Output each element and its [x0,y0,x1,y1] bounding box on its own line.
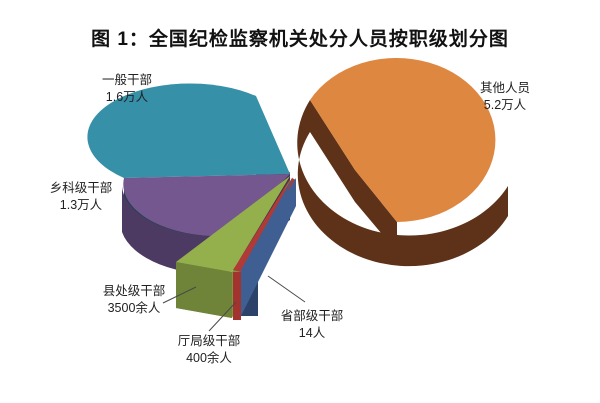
label-general-value: 1.6万人 [72,89,182,106]
label-bureau-value: 400余人 [150,350,268,367]
pie-chart-figure: 图 1：全国纪检监察机关处分人员按职级划分图 [0,0,600,403]
label-province-value: 14人 [256,325,368,342]
label-county-cadres: 县处级干部 3500余人 [78,283,190,317]
label-county-name: 县处级干部 [78,283,190,300]
label-other-value: 5.2万人 [452,97,558,114]
label-province-name: 省部级干部 [256,308,368,325]
label-other-personnel: 其他人员 5.2万人 [452,80,558,114]
label-township-value: 1.3万人 [22,197,140,214]
label-bureau-cadres: 厅局级干部 400余人 [150,333,268,367]
label-township-name: 乡科级干部 [22,180,140,197]
leader-line-province [268,276,305,302]
label-province-cadres: 省部级干部 14人 [256,308,368,342]
label-township-cadres: 乡科级干部 1.3万人 [22,180,140,214]
label-other-name: 其他人员 [452,80,558,97]
label-bureau-name: 厅局级干部 [150,333,268,350]
label-general-cadres: 一般干部 1.6万人 [72,72,182,106]
label-county-value: 3500余人 [78,300,190,317]
label-general-name: 一般干部 [72,72,182,89]
